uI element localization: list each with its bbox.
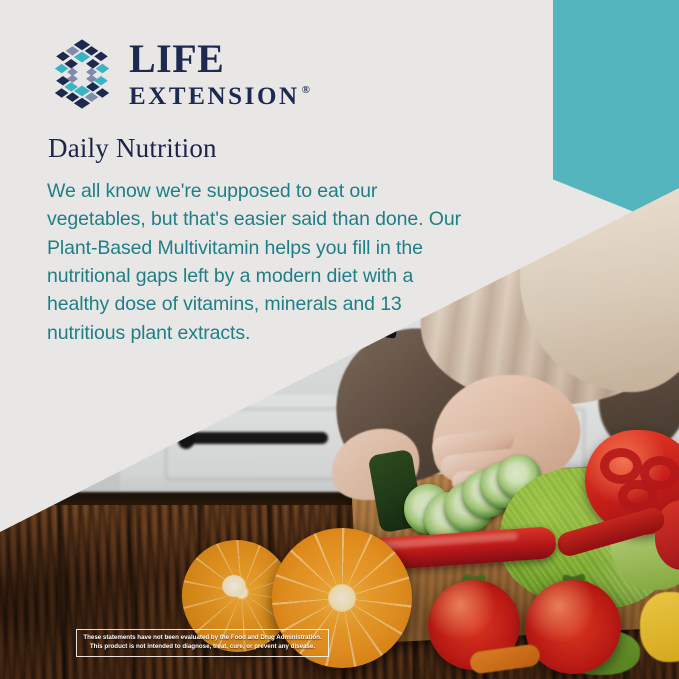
brand-name-line2: EXTENSION: [129, 84, 300, 109]
page-title: Daily Nutrition: [48, 133, 217, 164]
hexagon-snowflake-logo-icon: [48, 38, 116, 110]
card-content: LIFE EXTENSION ® Daily Nutrition We all …: [0, 0, 679, 679]
brand-name-line1: LIFE: [129, 39, 310, 79]
brand-name-line2-row: EXTENSION ®: [129, 84, 310, 109]
fda-disclaimer-line2: This product is not intended to diagnose…: [81, 642, 324, 651]
brand-logo[interactable]: LIFE EXTENSION ®: [48, 38, 310, 110]
product-info-card: LIFE EXTENSION ® Daily Nutrition We all …: [0, 0, 679, 679]
fda-disclaimer-line1: These statements have not been evaluated…: [81, 633, 324, 642]
brand-wordmark: LIFE EXTENSION ®: [129, 39, 310, 109]
registered-trademark-icon: ®: [302, 85, 310, 96]
fda-disclaimer: These statements have not been evaluated…: [76, 629, 329, 657]
body-paragraph: We all know we're supposed to eat our ve…: [47, 177, 467, 347]
